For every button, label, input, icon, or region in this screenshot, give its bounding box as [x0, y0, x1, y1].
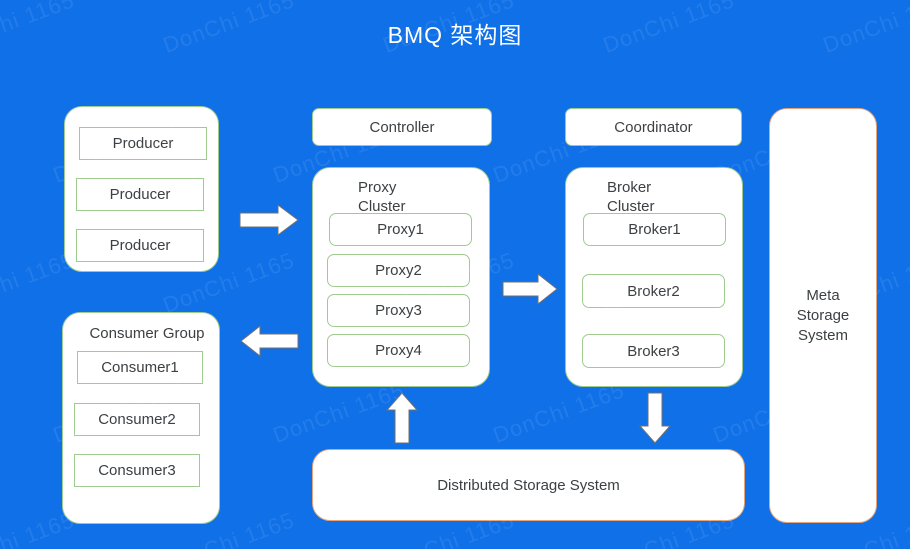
meta-storage-system-node[interactable]: Meta Storage System [769, 108, 877, 523]
broker-cluster-label: Broker Cluster [607, 178, 655, 216]
proxy-item-1-label: Proxy1 [377, 221, 424, 238]
consumer-item-3[interactable]: Consumer3 [74, 454, 200, 487]
proxy-item-1[interactable]: Proxy1 [329, 213, 472, 246]
architecture-diagram: Producer Producer Producer Consumer Grou… [0, 0, 910, 549]
controller-node[interactable]: Controller [312, 108, 492, 146]
arrow-broker-to-storage-icon [638, 392, 672, 444]
meta-storage-system-label: Meta Storage System [797, 286, 850, 346]
consumer-item-2[interactable]: Consumer2 [74, 403, 200, 436]
producer-item-2[interactable]: Producer [76, 178, 204, 211]
producer-item-3-label: Producer [110, 237, 171, 254]
proxy-cluster-label: Proxy Cluster [358, 178, 406, 216]
producer-item-3[interactable]: Producer [76, 229, 204, 262]
proxy-item-4-label: Proxy4 [375, 342, 422, 359]
coordinator-node[interactable]: Coordinator [565, 108, 742, 146]
broker-item-1-label: Broker1 [628, 221, 681, 238]
proxy-item-2-label: Proxy2 [375, 262, 422, 279]
broker-item-1[interactable]: Broker1 [583, 213, 726, 246]
distributed-storage-system-label: Distributed Storage System [437, 477, 620, 494]
arrow-producer-to-proxy-icon [240, 203, 300, 237]
broker-item-2-label: Broker2 [627, 283, 680, 300]
arrow-proxy-to-consumer-icon [240, 324, 298, 358]
proxy-item-4[interactable]: Proxy4 [327, 334, 470, 367]
consumer-item-1-label: Consumer1 [101, 359, 179, 376]
proxy-item-3[interactable]: Proxy3 [327, 294, 470, 327]
consumer-group-label: Consumer Group [82, 324, 212, 343]
producer-item-1[interactable]: Producer [79, 127, 207, 160]
broker-item-2[interactable]: Broker2 [582, 274, 725, 308]
consumer-item-1[interactable]: Consumer1 [77, 351, 203, 384]
producer-item-2-label: Producer [110, 186, 171, 203]
consumer-item-3-label: Consumer3 [98, 462, 176, 479]
controller-label: Controller [369, 119, 434, 136]
proxy-item-2[interactable]: Proxy2 [327, 254, 470, 287]
page-title: BMQ 架构图 [0, 16, 910, 50]
arrow-storage-to-proxy-icon [385, 392, 419, 444]
broker-item-3[interactable]: Broker3 [582, 334, 725, 368]
coordinator-label: Coordinator [614, 119, 692, 136]
producer-item-1-label: Producer [113, 135, 174, 152]
distributed-storage-system-node[interactable]: Distributed Storage System [312, 449, 745, 521]
consumer-item-2-label: Consumer2 [98, 411, 176, 428]
proxy-item-3-label: Proxy3 [375, 302, 422, 319]
broker-item-3-label: Broker3 [627, 343, 680, 360]
arrow-proxy-to-broker-icon [503, 272, 559, 306]
